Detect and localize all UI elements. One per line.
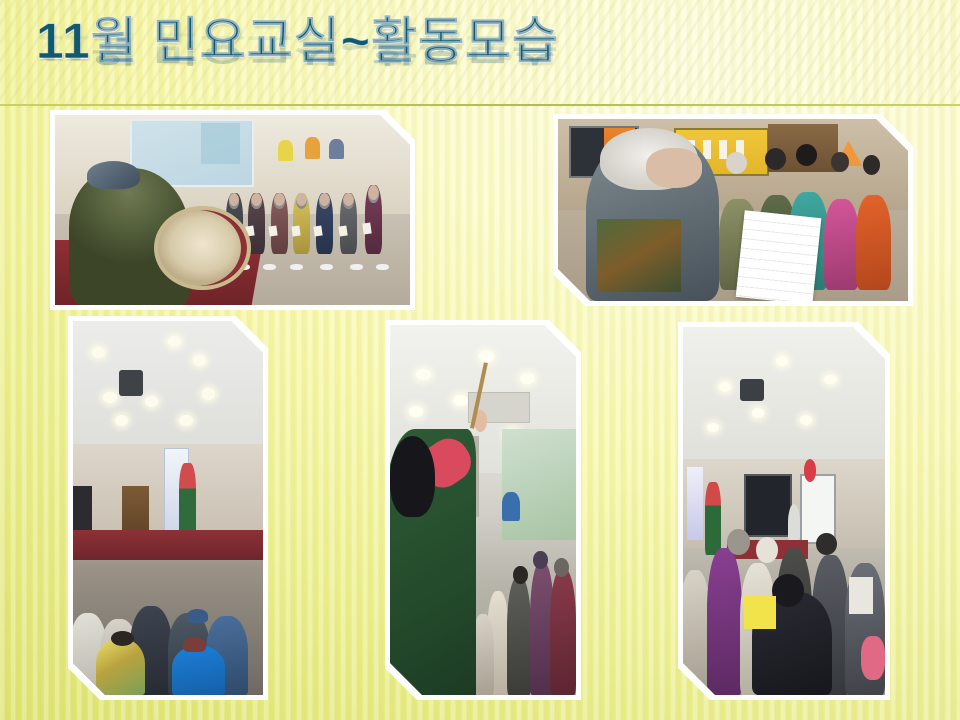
photo-classroom-wide-view [683, 327, 885, 695]
slide-canvas: 11월 민요교실~활동모습 11월 민요교실~활동모습 [0, 0, 960, 720]
photo-frame-hall-stage-performance[interactable] [68, 316, 268, 700]
photo-frame-classroom-wide-view[interactable] [678, 322, 890, 700]
photo-instructor-raised-arm [390, 325, 576, 695]
slide-title-block[interactable]: 11월 민요교실~활동모습 11월 민요교실~활동모습 [36, 10, 656, 106]
photo-elderly-woman-with-score [558, 119, 908, 301]
photo-frame-instructor-raised-arm[interactable] [385, 320, 581, 700]
photo-hall-stage-performance [73, 321, 263, 695]
photo-frame-drummer-and-audience[interactable] [50, 110, 415, 310]
photo-drummer-and-audience [55, 115, 410, 305]
page-title: 11월 민요교실~활동모습 [36, 10, 656, 72]
title-divider-rule [0, 104, 960, 106]
photo-frame-elderly-woman-with-score[interactable] [553, 114, 913, 306]
